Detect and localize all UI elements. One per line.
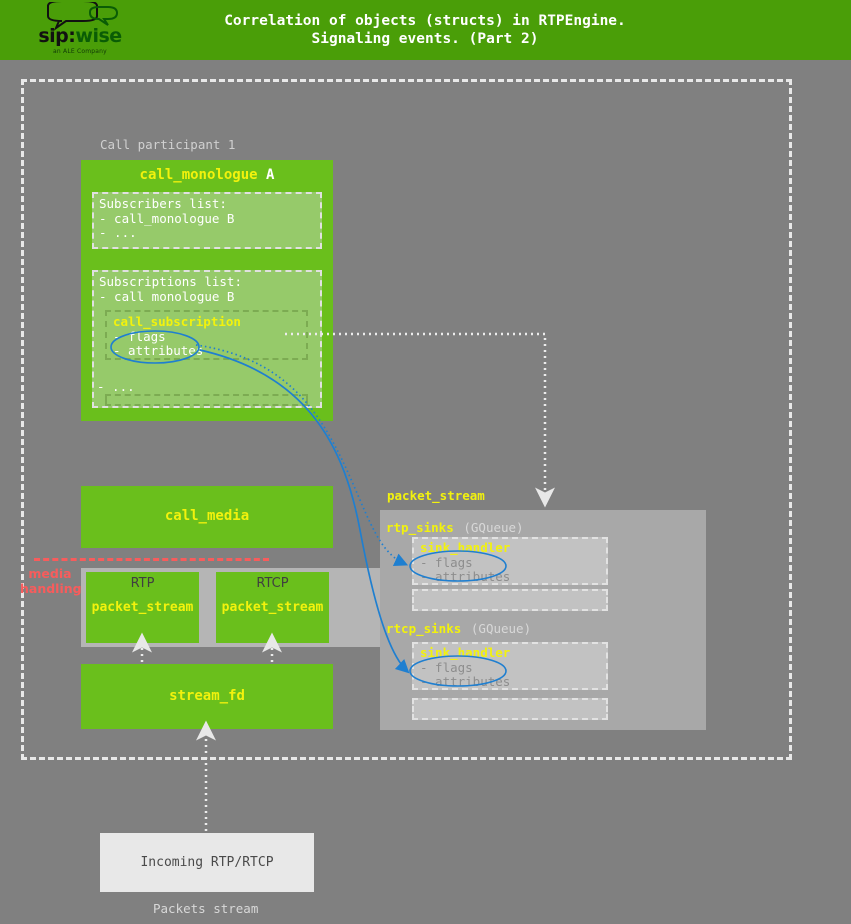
logo-wordmark: sip:wise [28,27,132,46]
rtp-sinks-name: rtp_sinks [386,520,454,535]
logo-sip-text: sip [38,25,68,47]
incoming-rtp-rtcp-box[interactable]: Incoming RTP/RTCP [100,833,314,892]
call-subscription-empty-slot[interactable] [105,394,308,406]
media-handling-label: media handling [20,566,80,596]
packets-stream-caption: Packets stream [153,901,258,916]
rtcp-sinks-header: rtcp_sinks (GQueue) [386,618,531,637]
call-subscription-field-1: - attributes [113,344,300,359]
rtp-sink-handler-title: sink_handler [420,541,600,556]
rtcp-sink-handler-field-1: - attributes [420,675,600,690]
call-subscription-box[interactable]: call_subscription - flags - attributes [105,310,308,360]
page-title: Correlation of objects (structs) in RTPE… [150,12,700,48]
call-subscription-field-0: - flags [113,330,300,345]
rtp-sinks-header: rtp_sinks (GQueue) [386,517,524,536]
stream-fd-box[interactable]: stream_fd [81,664,333,729]
rtp-sink-handler-field-1: - attributes [420,570,600,585]
subscribers-item-1: - ... [99,226,315,241]
logo-tagline: an ALE Company [28,48,132,55]
stream-fd-title: stream_fd [81,688,333,704]
subscribers-heading: Subscribers list: [99,197,315,212]
rtcp-head-label: RTCP [216,576,329,591]
rtcp-packet-stream-box[interactable]: RTCP packet_stream [216,572,329,643]
rtcp-sink-handler-field-0: - flags [420,661,600,676]
title-line-2: Signaling events. (Part 2) [150,30,700,48]
media-handling-line-1: media [20,566,80,581]
media-handling-divider [34,558,269,561]
rtcp-packet-stream-title: packet_stream [216,600,329,615]
rtp-sinks-type: (GQueue) [463,520,523,535]
page-header: sip:wise an ALE Company Correlation of o… [0,0,851,60]
rtp-sink-empty-slot[interactable] [412,589,608,611]
logo-wise-text: wise [75,25,121,47]
call-subscription-title: call_subscription [113,315,300,330]
rtp-packet-stream-box[interactable]: RTP packet_stream [86,572,199,643]
rtp-sink-handler-slot[interactable]: sink_handler - flags - attributes [412,537,608,585]
media-handling-line-2: handling [20,581,80,596]
call-media-box[interactable]: call_media [81,486,333,548]
call-monologue-title-text: call_monologue [140,167,258,183]
call-monologue-title: call_monologue A [81,167,333,183]
call-participant-label: Call participant 1 [100,137,235,152]
rtcp-sink-handler-title: sink_handler [420,646,600,661]
call-media-title: call_media [81,508,333,524]
subscriptions-item-1: - ... [97,379,135,394]
subscribers-list-box[interactable]: Subscribers list: - call_monologue B - .… [92,192,322,249]
subscriptions-item-0: - call monologue B [99,290,315,305]
diagram-page: sip:wise an ALE Company Correlation of o… [0,0,851,924]
rtcp-sinks-type: (GQueue) [471,621,531,636]
title-line-1: Correlation of objects (structs) in RTPE… [150,12,700,30]
packet-stream-panel-label: packet_stream [387,488,485,503]
call-monologue-suffix: A [266,167,274,183]
subscriptions-heading: Subscriptions list: [99,275,315,290]
rtcp-sinks-name: rtcp_sinks [386,621,461,636]
sipwise-logo: sip:wise an ALE Company [28,2,132,58]
subscribers-item-0: - call_monologue B [99,212,315,227]
rtcp-sink-empty-slot[interactable] [412,698,608,720]
rtp-sink-handler-field-0: - flags [420,556,600,571]
rtp-head-label: RTP [86,576,199,591]
rtcp-sink-handler-slot[interactable]: sink_handler - flags - attributes [412,642,608,690]
rtp-packet-stream-title: packet_stream [86,600,199,615]
